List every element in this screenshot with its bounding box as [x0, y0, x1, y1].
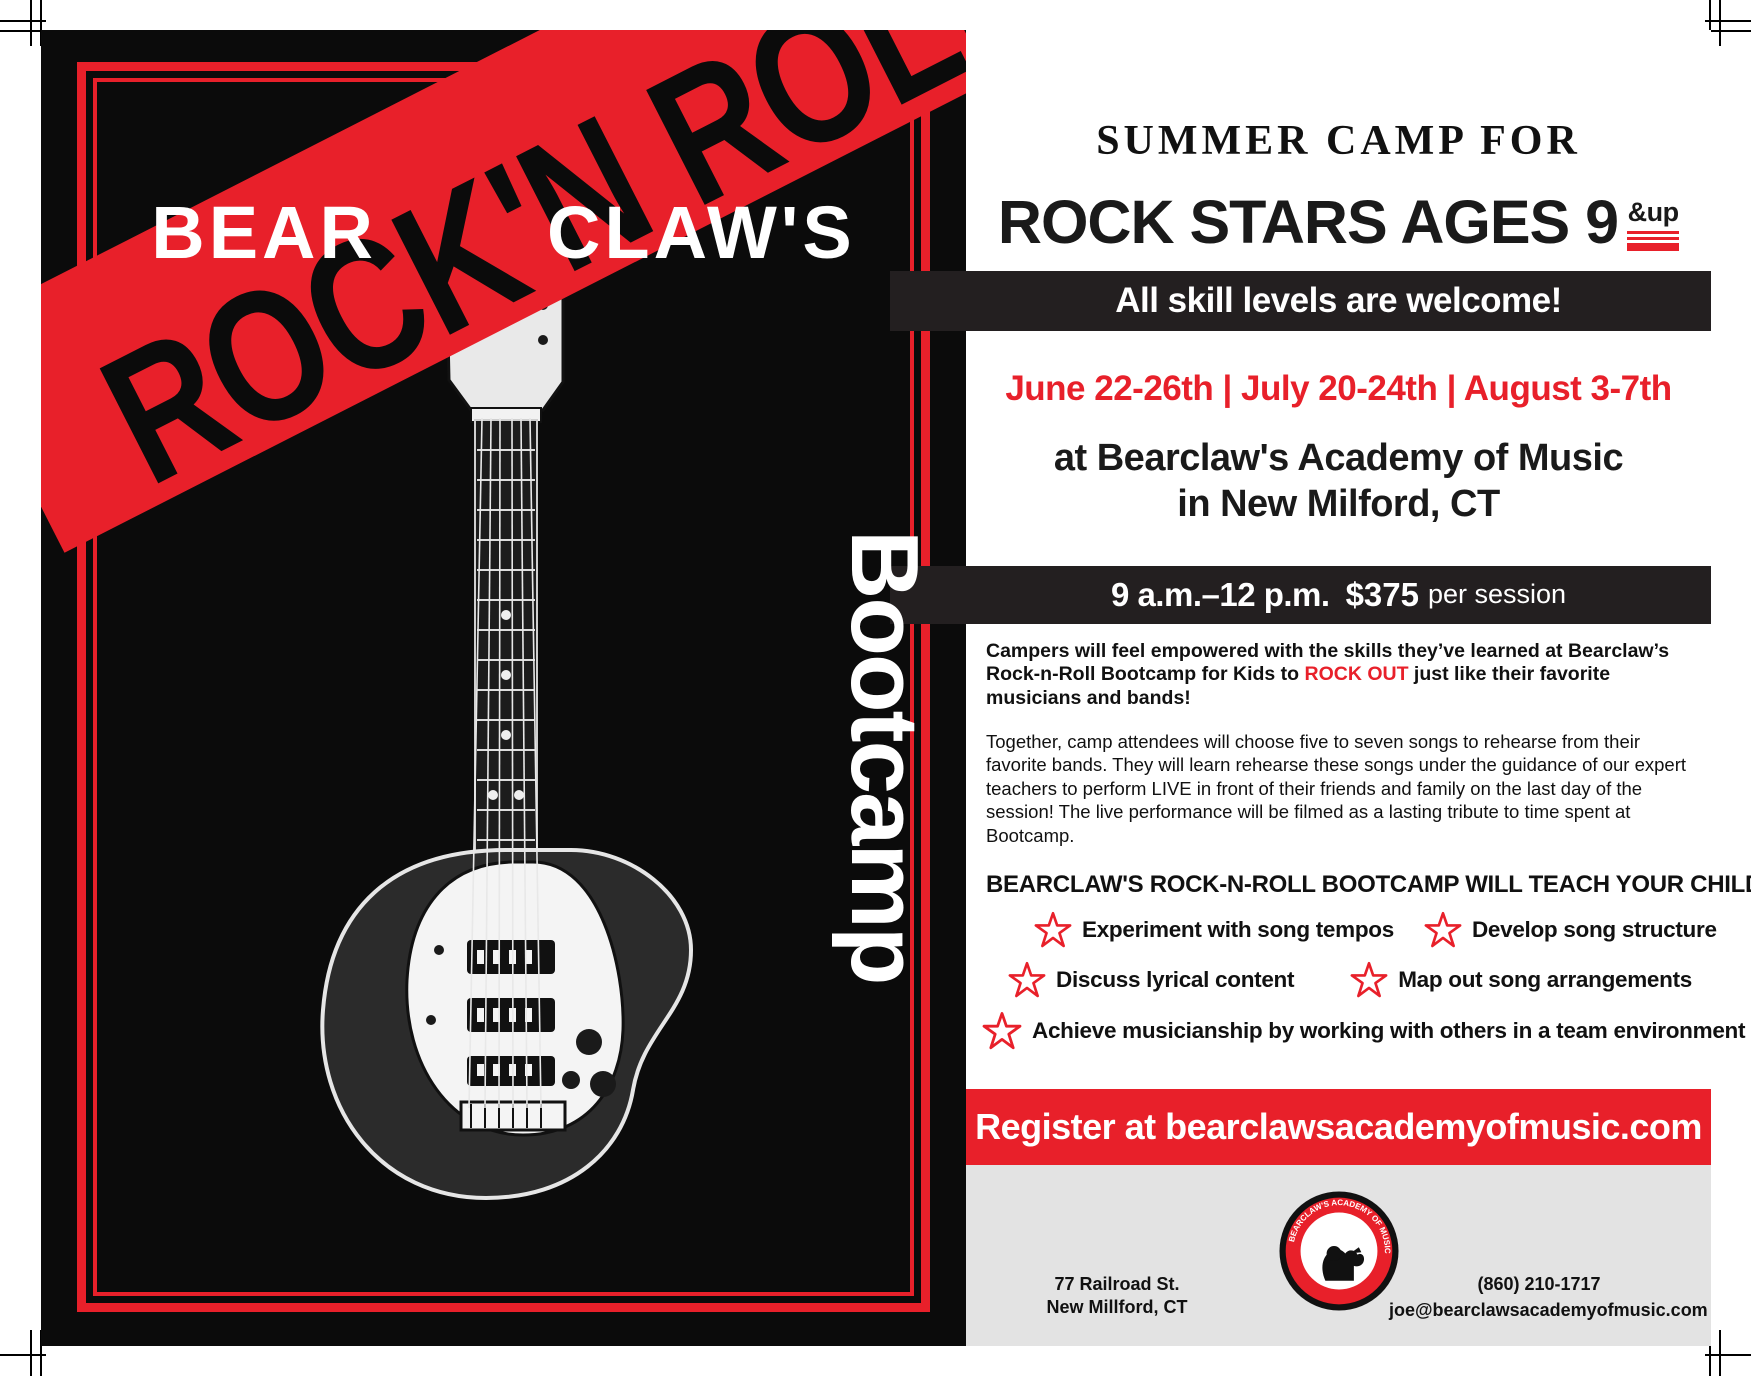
intro-paragraph: Campers will feel empowered with the ski… [986, 640, 1689, 711]
poster-art-panel: BEARCLAW'S [41, 30, 966, 1346]
camp-price: $375 [1346, 576, 1419, 614]
star-icon [1350, 961, 1388, 999]
teach-row-1: Experiment with song tempos Develop song… [986, 911, 1689, 949]
teach-item-label: Discuss lyrical content [1056, 967, 1294, 993]
details-paragraph: Together, camp attendees will choose fiv… [986, 730, 1689, 847]
list-item: Achieve musicianship by working with oth… [982, 1011, 1745, 1051]
star-icon [1008, 961, 1046, 999]
venue-line-2: in New Milford, CT [966, 481, 1711, 527]
skill-levels-text: All skill levels are welcome! [1115, 281, 1562, 321]
bearclaws-academy-logo: BEARCLAW'S ACADEMY OF MUSIC, LLC [1277, 1189, 1401, 1313]
footer-address-line-2: New Millford, CT [1022, 1296, 1212, 1319]
footer-address: 77 Railroad St. New Millford, CT [1022, 1273, 1212, 1320]
star-icon [1034, 911, 1072, 949]
venue-line-1: at Bearclaw's Academy of Music [966, 435, 1711, 481]
register-cta-text[interactable]: Register at bearclawsacademyofmusic.com [975, 1106, 1702, 1148]
crop-mark-top-right-h [1705, 20, 1751, 22]
camp-time: 9 a.m.–12 p.m. [1111, 576, 1330, 614]
footer-bar: BEARCLAW'S ACADEMY OF MUSIC, LLC 77 Rail… [966, 1165, 1711, 1346]
headline-text: ROCK STARS AGES 9 [998, 192, 1618, 253]
teach-item-label: Develop song structure [1472, 917, 1717, 943]
crop-mark-bottom-left-v [30, 1330, 32, 1376]
red-rules [1627, 231, 1679, 251]
list-item: Map out song arrangements [1350, 961, 1692, 999]
crop-mark-bottom-right-h [1705, 1354, 1751, 1356]
crop-mark-bottom-right-v [1719, 1330, 1721, 1376]
info-panel: SUMMER CAMP FOR ROCK STARS AGES 9 &up Al… [966, 30, 1711, 1346]
crop-mark-bottom-left-h [0, 1354, 46, 1356]
skill-levels-banner: All skill levels are welcome! [890, 271, 1711, 331]
teach-list: Experiment with song tempos Develop song… [986, 911, 1689, 1051]
headline-block: SUMMER CAMP FOR ROCK STARS AGES 9 &up [966, 30, 1711, 253]
crop-mark-top-left-h2 [0, 30, 46, 32]
poster-brand-claws: CLAW'S [547, 191, 856, 274]
footer-email[interactable]: joe@bearclawsacademyofmusic.com [1389, 1297, 1689, 1323]
teach-item-label: Experiment with song tempos [1082, 917, 1394, 943]
teach-row-2: Discuss lyrical content Map out song arr… [986, 961, 1689, 999]
corner-notch-bottom-right [858, 1240, 930, 1312]
poster-brand-bear: BEAR [151, 191, 377, 274]
poster-page: BEARCLAW'S [41, 30, 1711, 1346]
crop-mark-top-left-h [0, 20, 46, 22]
crop-mark-top-left-v [30, 0, 32, 46]
bootcamp-vertical-title: Bootcamp [836, 530, 932, 983]
rock-out-highlight: ROCK OUT [1305, 663, 1409, 685]
teach-item-label: Achieve musicianship by working with oth… [1032, 1018, 1745, 1044]
star-icon [1424, 911, 1462, 949]
crop-mark-top-right-v [1719, 0, 1721, 46]
star-icon [982, 1011, 1022, 1051]
corner-notch-top-left [77, 62, 149, 134]
poster-brand-title: BEARCLAW'S [41, 190, 966, 275]
teach-heading: BEARCLAW'S ROCK-N-ROLL BOOTCAMP WILL TEA… [986, 871, 1689, 899]
kicker-text: SUMMER CAMP FOR [980, 120, 1697, 162]
time-price-banner: 9 a.m.–12 p.m. $375 per session [890, 566, 1711, 624]
teach-row-3: Achieve musicianship by working with oth… [982, 1011, 1689, 1051]
teach-item-label: Map out song arrangements [1398, 967, 1692, 993]
camp-price-unit: per session [1428, 579, 1566, 610]
crop-mark-top-right-h2 [1705, 30, 1751, 32]
and-up-badge: &up [1627, 170, 1679, 251]
body-copy: Campers will feel empowered with the ski… [966, 640, 1711, 1052]
list-item: Experiment with song tempos [1034, 911, 1394, 949]
footer-address-line-1: 77 Railroad St. [1022, 1273, 1212, 1296]
footer-phone[interactable]: (860) 210-1717 [1389, 1271, 1689, 1297]
register-cta-bar[interactable]: Register at bearclawsacademyofmusic.com [966, 1089, 1711, 1165]
and-up-text: &up [1628, 197, 1679, 227]
corner-notch-bottom-left [77, 1240, 149, 1312]
footer-contact: (860) 210-1717 joe@bearclawsacademyofmus… [1389, 1271, 1689, 1323]
session-dates: June 22-26th | July 20-24th | August 3-7… [966, 369, 1711, 409]
list-item: Discuss lyrical content [1008, 961, 1294, 999]
main-headline: ROCK STARS AGES 9 &up [980, 170, 1697, 253]
venue-block: at Bearclaw's Academy of Music in New Mi… [966, 435, 1711, 528]
list-item: Develop song structure [1424, 911, 1717, 949]
